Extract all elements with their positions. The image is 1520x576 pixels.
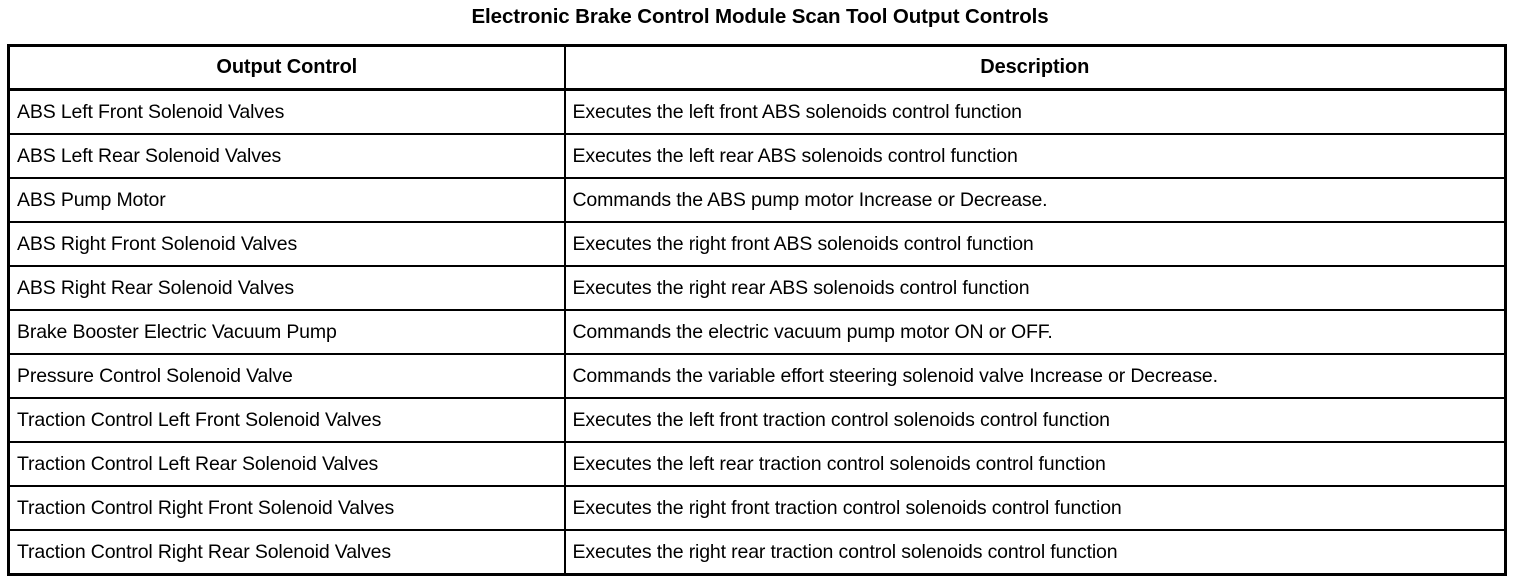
cell-output-control: ABS Left Rear Solenoid Valves xyxy=(9,134,565,178)
table-row: Traction Control Right Rear Solenoid Val… xyxy=(9,530,1506,575)
document-page: Electronic Brake Control Module Scan Too… xyxy=(0,0,1520,560)
table-header: Output Control Description xyxy=(9,46,1506,90)
cell-output-control: ABS Pump Motor xyxy=(9,178,565,222)
cell-description: Executes the right rear traction control… xyxy=(565,530,1506,575)
cell-description: Commands the variable effort steering so… xyxy=(565,354,1506,398)
table-row: ABS Right Rear Solenoid ValvesExecutes t… xyxy=(9,266,1506,310)
cell-description: Executes the right front traction contro… xyxy=(565,486,1506,530)
cell-output-control: ABS Left Front Solenoid Valves xyxy=(9,90,565,135)
table-body: ABS Left Front Solenoid ValvesExecutes t… xyxy=(9,90,1506,575)
table-header-row: Output Control Description xyxy=(9,46,1506,90)
cell-output-control: Traction Control Left Rear Solenoid Valv… xyxy=(9,442,565,486)
table-row: ABS Right Front Solenoid ValvesExecutes … xyxy=(9,222,1506,266)
cell-output-control: ABS Right Front Solenoid Valves xyxy=(9,222,565,266)
column-header-output-control: Output Control xyxy=(9,46,565,90)
cell-output-control: ABS Right Rear Solenoid Valves xyxy=(9,266,565,310)
table-row: ABS Pump MotorCommands the ABS pump moto… xyxy=(9,178,1506,222)
table-row: Traction Control Left Front Solenoid Val… xyxy=(9,398,1506,442)
cell-description: Executes the right rear ABS solenoids co… xyxy=(565,266,1506,310)
output-controls-table-container: Output Control Description ABS Left Fron… xyxy=(7,44,1507,576)
table-row: ABS Left Rear Solenoid ValvesExecutes th… xyxy=(9,134,1506,178)
cell-output-control: Traction Control Right Front Solenoid Va… xyxy=(9,486,565,530)
table-row: Brake Booster Electric Vacuum PumpComman… xyxy=(9,310,1506,354)
cell-description: Executes the left front traction control… xyxy=(565,398,1506,442)
cell-description: Executes the right front ABS solenoids c… xyxy=(565,222,1506,266)
cell-description: Executes the left rear ABS solenoids con… xyxy=(565,134,1506,178)
cell-output-control: Brake Booster Electric Vacuum Pump xyxy=(9,310,565,354)
cell-description: Commands the ABS pump motor Increase or … xyxy=(565,178,1506,222)
page-title: Electronic Brake Control Module Scan Too… xyxy=(0,4,1520,30)
output-controls-table: Output Control Description ABS Left Fron… xyxy=(7,44,1507,576)
cell-output-control: Traction Control Right Rear Solenoid Val… xyxy=(9,530,565,575)
table-row: Traction Control Right Front Solenoid Va… xyxy=(9,486,1506,530)
column-header-description: Description xyxy=(565,46,1506,90)
cell-output-control: Traction Control Left Front Solenoid Val… xyxy=(9,398,565,442)
cell-description: Executes the left front ABS solenoids co… xyxy=(565,90,1506,135)
cell-description: Executes the left rear traction control … xyxy=(565,442,1506,486)
table-row: Pressure Control Solenoid ValveCommands … xyxy=(9,354,1506,398)
cell-output-control: Pressure Control Solenoid Valve xyxy=(9,354,565,398)
table-row: ABS Left Front Solenoid ValvesExecutes t… xyxy=(9,90,1506,135)
cell-description: Commands the electric vacuum pump motor … xyxy=(565,310,1506,354)
table-row: Traction Control Left Rear Solenoid Valv… xyxy=(9,442,1506,486)
